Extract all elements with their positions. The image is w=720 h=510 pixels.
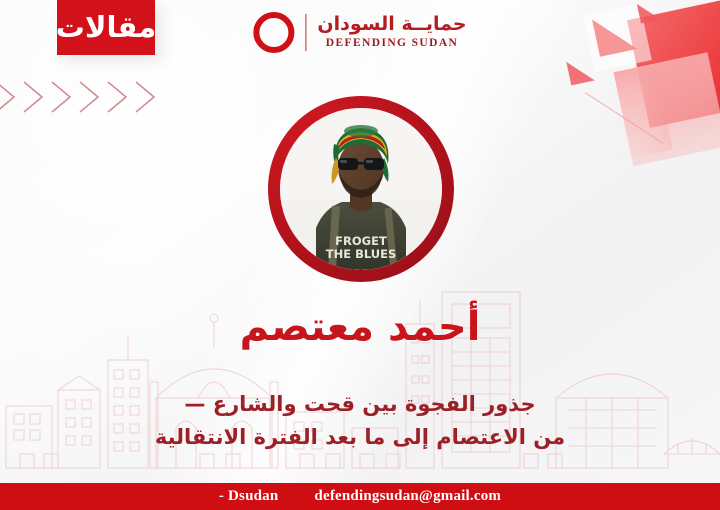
headline-line-1: جذور الفجوة بين قحت والشارع — — [0, 388, 720, 421]
chevron-decoration — [0, 76, 169, 118]
shirt-text-line1: FROGET — [335, 234, 387, 248]
footer-email[interactable]: defendingsudan@gmail.com — [314, 488, 501, 505]
brand-wordmark: حمايــة السودان DEFENDING SUDAN — [305, 14, 466, 51]
author-name: أحمد معتصم — [240, 304, 481, 350]
footer-handle[interactable]: - Dsudan — [219, 488, 279, 505]
shirt-text-line2: THE BLUES — [326, 247, 397, 261]
corner-decoration — [540, 0, 720, 175]
ring-circle-icon — [253, 12, 294, 53]
brand-name-english: DEFENDING SUDAN — [326, 36, 459, 51]
headline-line-2: من الاعتصام إلى ما بعد الفترة الانتقالية — [0, 421, 720, 454]
article-poster: مقالات حمايــة السودان DEFENDING SUDAN — [0, 0, 720, 510]
brand-name-arabic: حمايــة السودان — [317, 14, 466, 36]
page-title: أحمد معتصم — [0, 305, 720, 349]
brand-lockup: حمايــة السودان DEFENDING SUDAN — [253, 12, 466, 53]
footer-bar: defendingsudan@gmail.com - Dsudan — [0, 483, 720, 510]
article-headline: جذور الفجوة بين قحت والشارع — من الاعتصا… — [0, 388, 720, 453]
author-portrait: FROGET THE BLUES — [268, 96, 454, 282]
category-badge: مقالات — [57, 0, 155, 55]
category-badge-label: مقالات — [56, 13, 156, 42]
portrait-photo: FROGET THE BLUES — [280, 108, 442, 270]
